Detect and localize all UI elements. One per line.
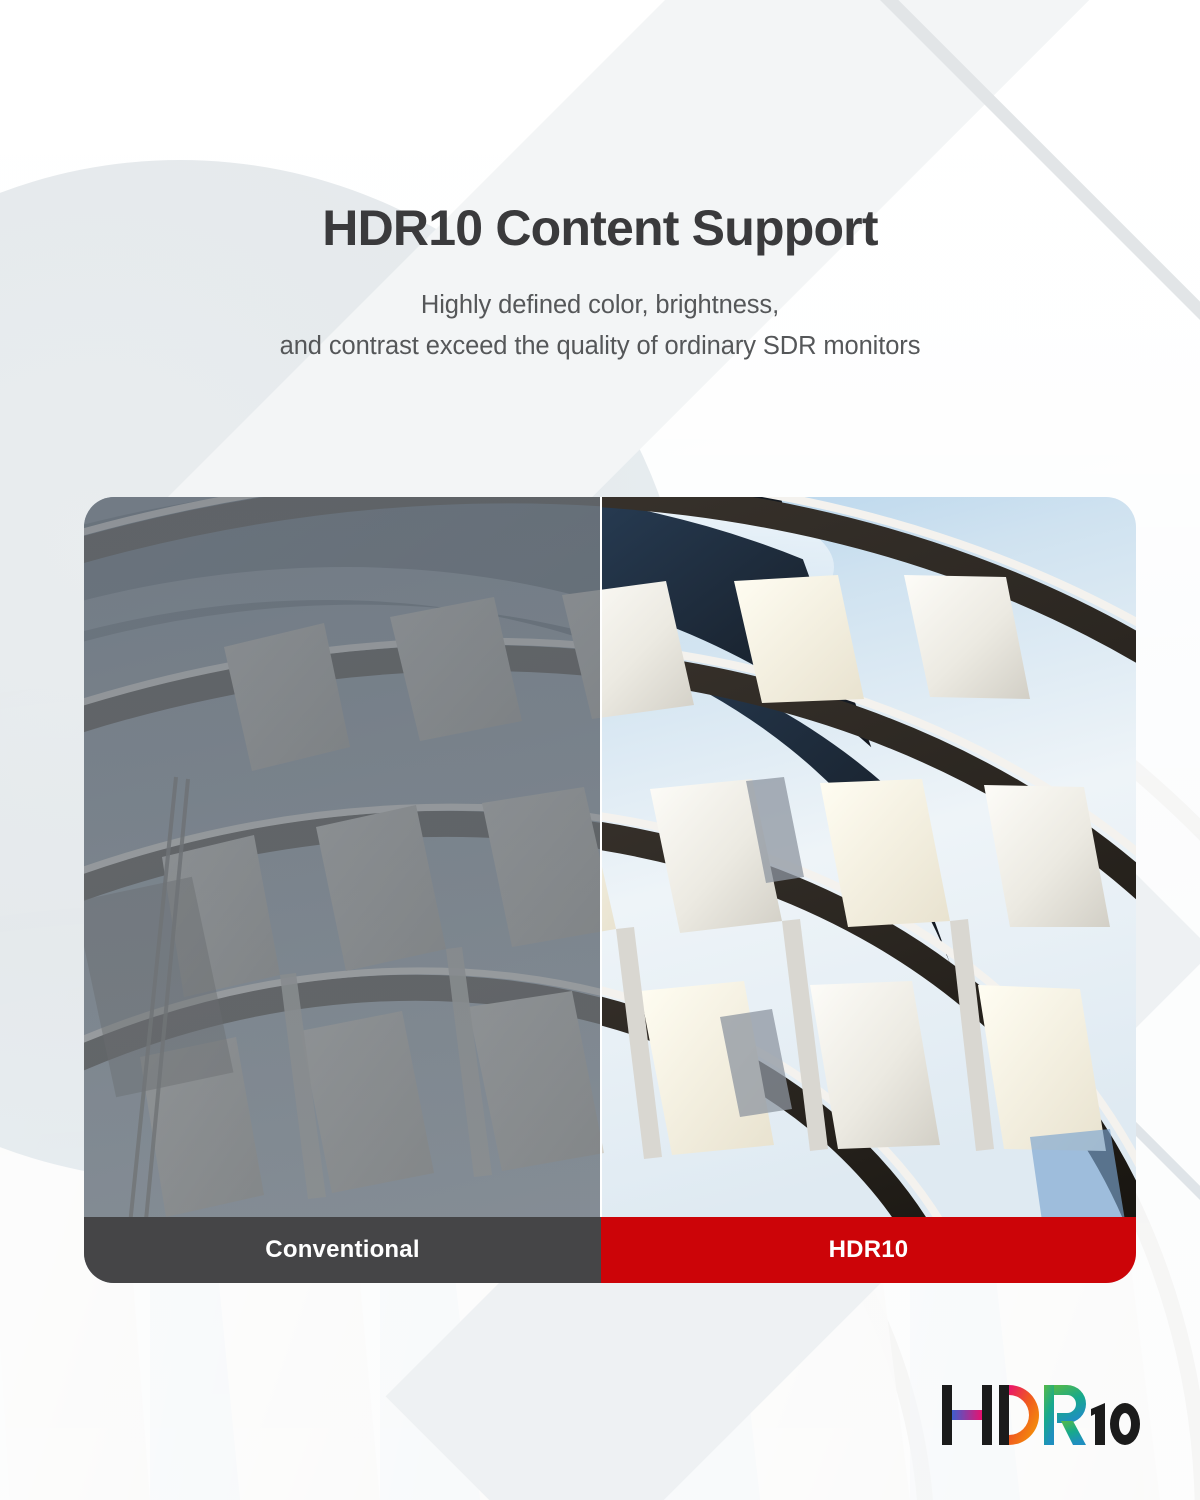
subtitle-line-2: and contrast exceed the quality of ordin… bbox=[0, 326, 1200, 367]
hdr10-building-photo bbox=[602, 497, 1136, 1283]
conventional-contrast-overlay bbox=[84, 497, 600, 1283]
conventional-panel[interactable] bbox=[84, 497, 600, 1283]
subtitle-block: Highly defined color, brightness, and co… bbox=[0, 285, 1200, 368]
logo-letter-h bbox=[942, 1385, 992, 1445]
label-hdr10[interactable]: HDR10 bbox=[601, 1217, 1136, 1283]
logo-letter-d bbox=[999, 1385, 1039, 1445]
comparison-label-bar: Conventional HDR10 bbox=[84, 1217, 1136, 1283]
page-title: HDR10 Content Support bbox=[0, 201, 1200, 255]
logo-number-10 bbox=[1091, 1403, 1140, 1445]
header: HDR10 Content Support Highly defined col… bbox=[0, 0, 1200, 368]
hdr10-panel[interactable] bbox=[602, 497, 1136, 1283]
comparison-card: Conventional HDR10 bbox=[84, 497, 1136, 1283]
panel-divider bbox=[600, 497, 602, 1283]
label-conventional[interactable]: Conventional bbox=[84, 1217, 601, 1283]
hdr10-logo bbox=[939, 1379, 1144, 1463]
subtitle-line-1: Highly defined color, brightness, bbox=[0, 285, 1200, 326]
logo-letter-r bbox=[1044, 1385, 1086, 1445]
